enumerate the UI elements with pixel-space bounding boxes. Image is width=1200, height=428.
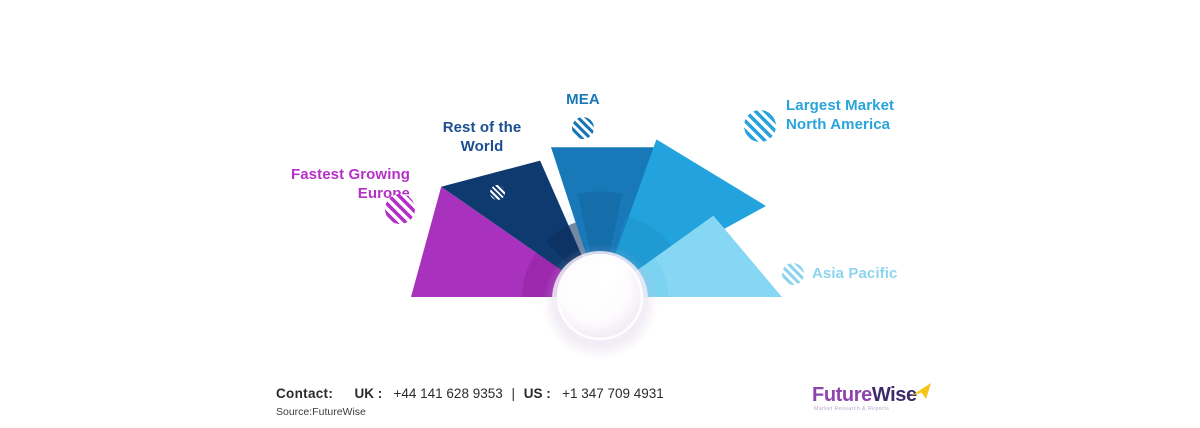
label-north-america-lead: Largest Market [786,96,986,115]
marker-asia-pacific-striped-circle [782,263,804,285]
label-asia-pacific: Asia Pacific [812,264,972,283]
logo-wordmark: FutureWise [812,384,917,407]
radial-chart-svg [0,0,1200,372]
label-rest-of-world-lead: Rest of the [412,118,552,137]
label-europe-lead: Fastest Growing [242,165,410,184]
contact-us-phone[interactable]: +1 347 709 4931 [562,386,664,401]
contact-uk-phone[interactable]: +44 141 628 9353 [394,386,503,401]
chart-center-hub[interactable] [542,244,658,360]
label-rest-of-world: Rest of the World [412,118,552,156]
footer: Contact: UK : +44 141 628 9353 | US : +1… [0,372,1200,428]
radial-chart: Fastest Growing Europe Rest of the World… [0,0,1200,372]
label-north-america-name: North America [786,115,986,134]
contact-uk-label: UK : [354,386,382,401]
infographic-page: Fastest Growing Europe Rest of the World… [0,0,1200,428]
futurewise-logo[interactable]: FutureWise Market Research & Reports [812,382,932,418]
label-europe-name: Europe [242,184,410,203]
contact-label: Contact: [276,386,333,401]
contact-separator: | [507,386,521,401]
contact-line: Contact: UK : +44 141 628 9353 | US : +1… [276,386,664,401]
marker-north-america-striped-circle [744,110,776,142]
logo-tagline: Market Research & Reports [814,406,889,412]
source-line: Source:FutureWise [276,406,366,418]
label-mea: MEA [536,90,630,109]
label-asia-pacific-name: Asia Pacific [812,264,972,283]
contact-us-label: US : [524,386,551,401]
marker-rest-of-world-checkered-circle [490,185,505,200]
logo-arrow-icon [910,382,932,400]
marker-europe-striped-circle [385,194,415,224]
label-mea-name: MEA [536,90,630,109]
label-north-america: Largest Market North America [786,96,986,134]
marker-mea-striped-circle [572,117,594,139]
label-europe: Fastest Growing Europe [242,165,410,203]
logo-word-future: Future [812,384,872,406]
label-rest-of-world-name: World [412,137,552,156]
